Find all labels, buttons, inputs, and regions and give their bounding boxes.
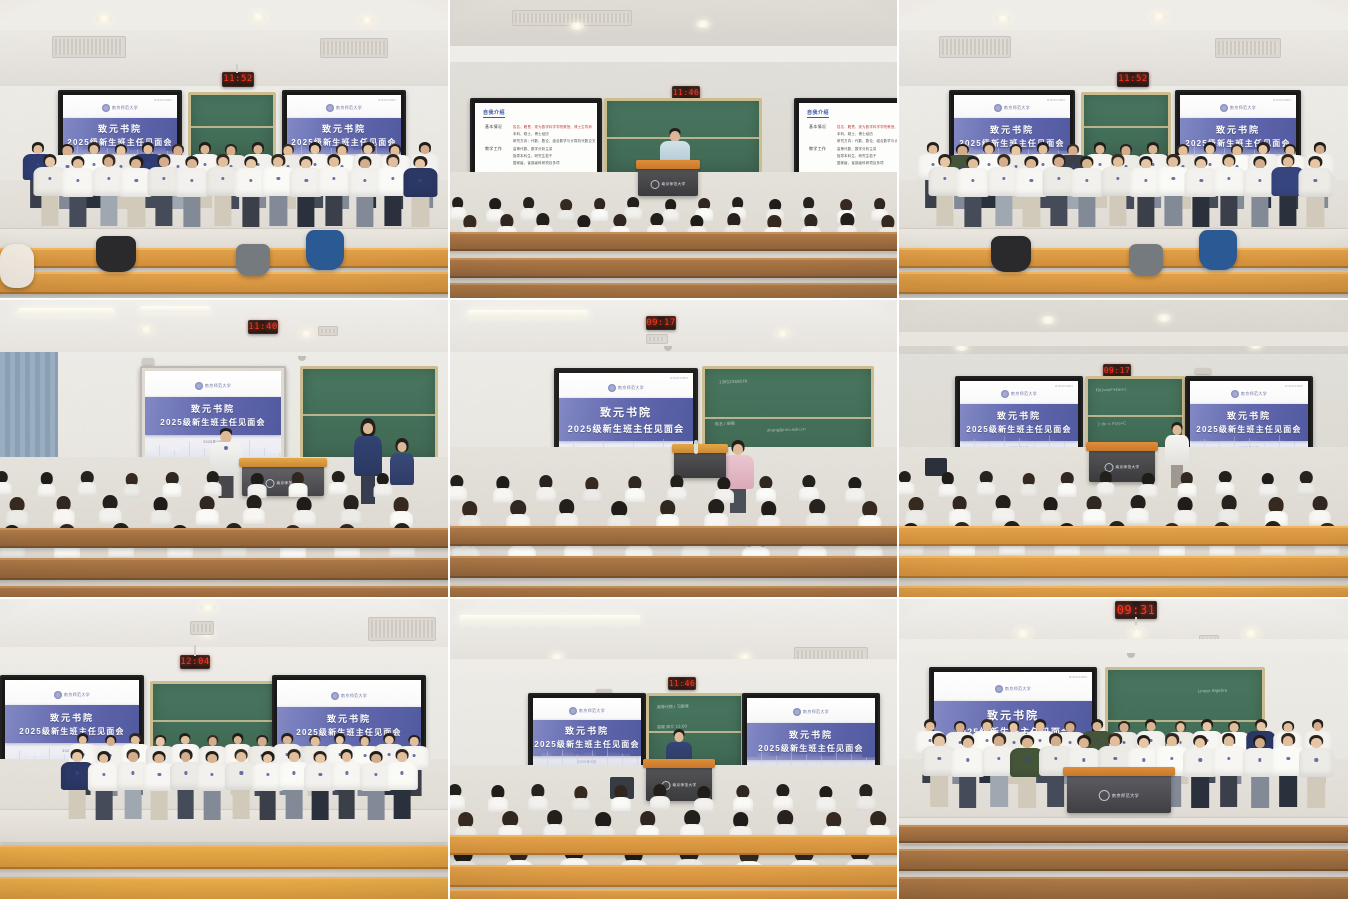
university-name: 南京师范大学 [1005, 686, 1031, 692]
photo-cell-bottom-center[interactable]: 11:46 南京师范大学 致元书院 2025级新生班主任见面会 2025年9月 [450, 599, 899, 899]
head [301, 159, 311, 169]
ac-vent-icon [1215, 38, 1281, 58]
textslide-value: 姓名、籍贯、现为数学科学学院教授、博士生导师 [513, 124, 596, 129]
podium-top [239, 458, 328, 467]
ceiling-light [1041, 316, 1055, 324]
textslide-title: 自我介绍 [807, 109, 829, 118]
legs [1023, 197, 1040, 227]
audience-member [706, 499, 726, 529]
torso [528, 796, 548, 810]
blackboard-divider [153, 720, 273, 722]
head [78, 736, 87, 745]
legs [125, 790, 142, 819]
head [143, 145, 152, 154]
head [926, 722, 935, 731]
audience-member [249, 473, 265, 497]
university-name: 南京师范大学 [341, 693, 367, 699]
podium: 南京师范大学 [1067, 775, 1171, 813]
audience-member [626, 476, 643, 502]
university-logo: 南京师范大学 [1231, 390, 1267, 398]
university-logo: 南京师范大学 [54, 691, 90, 699]
textslide-value: 国家级、省部级科研项目多项 [837, 160, 884, 165]
audience-member [669, 475, 686, 501]
torso [203, 482, 222, 496]
legs [177, 790, 194, 819]
university-seal-icon [1231, 390, 1239, 398]
podium: 南京师范大学 [638, 168, 698, 196]
audience-member [151, 497, 170, 526]
classroom-scene: 09:17 HIKVISION 南京师范大学 致元书院 2025级新生班主任见面… [450, 300, 897, 597]
desk-row [450, 586, 897, 597]
university-seal-icon [651, 180, 660, 189]
ceiling-light [460, 615, 640, 622]
backpack [1129, 244, 1163, 276]
torso [650, 796, 670, 810]
blackboard-divider [649, 731, 741, 733]
ceiling-soffit [899, 0, 1348, 30]
head [397, 752, 407, 762]
legs [1307, 197, 1324, 227]
torso [591, 209, 609, 222]
audience-member [1085, 496, 1104, 525]
textslide-key: 教学工作 [809, 146, 831, 152]
attendee-standing [388, 438, 416, 502]
head [90, 145, 99, 154]
desk-row [450, 526, 897, 546]
legs [368, 791, 385, 820]
head [1022, 738, 1032, 748]
slide-content: HIKVISION 南京师范大学 致元书院 2025级新生班主任见面会 2025… [1190, 381, 1308, 455]
textslide-row: 基本情况 姓名、籍贯、现为数学科学学院教授、博士生导师 本科、硕士、博士经历 研… [809, 124, 897, 143]
digital-clock: 11:52 [222, 72, 254, 87]
person [318, 154, 351, 226]
photo-cell-bottom-left[interactable]: 12:04 南京师范大学 致元书院 2025级新生班主任见面会 2025年9月 [0, 599, 450, 899]
head [1283, 157, 1293, 167]
water-bottle [694, 440, 698, 454]
legs [233, 790, 250, 819]
textslide-value: 指导本科生、研究生若干 [513, 153, 560, 158]
chalk-writing: 姓名 / 邮箱 [715, 421, 735, 428]
slide-content: 自我介绍 基本情况 姓名、籍贯、现为数学科学学院教授、博士生导师 本科、硕士、博… [475, 103, 597, 175]
audience-member [1219, 495, 1238, 524]
head [33, 145, 42, 154]
desk-row [450, 889, 897, 899]
legs [41, 196, 58, 226]
university-name: 南京师范大学 [205, 383, 231, 389]
slide-line-2: 2025级新生班主任见面会 [568, 422, 685, 435]
ac-vent-icon [190, 621, 214, 635]
legs [128, 197, 145, 227]
projection-screen-right: 自我介绍 基本情况 姓名、籍贯、现为数学科学学院教授、博士生导师 本科、硕士、博… [794, 98, 897, 180]
audience-member [124, 473, 140, 497]
head [420, 145, 429, 154]
legs [1047, 776, 1065, 807]
slide-title-band: 致元书院 2025级新生班主任见面会 [960, 404, 1078, 441]
head [155, 754, 165, 764]
podium-university-name: 南京师范大学 [1112, 793, 1140, 799]
head [1038, 145, 1047, 154]
desk-row [450, 835, 897, 855]
desk-row [899, 877, 1348, 899]
blackboard-divider [303, 414, 435, 416]
digital-clock: 11:40 [248, 320, 278, 334]
audience-member [807, 499, 827, 529]
head [1051, 736, 1061, 746]
head [940, 157, 950, 167]
head [985, 145, 994, 154]
screen-brand-label: HIKVISION [670, 376, 688, 380]
university-name: 南京师范大学 [112, 105, 138, 111]
slide-title-band: 致元书院 2025级新生班主任见面会 [1190, 404, 1308, 441]
legs [412, 197, 429, 227]
audience-member [695, 786, 712, 812]
desk-row [0, 272, 448, 294]
textslide-value: 指导本科生、研究生若干 [837, 153, 884, 158]
head [360, 737, 369, 746]
university-seal-icon [326, 104, 334, 112]
desk-row [450, 556, 897, 578]
ceiling-light [1243, 629, 1259, 638]
audience-member [735, 785, 752, 811]
photo-cell-middle-center[interactable]: 09:17 HIKVISION 南京师范大学 致元书院 2025级新生班主任见面… [450, 300, 899, 599]
backpack [1199, 230, 1237, 270]
legs [100, 196, 117, 226]
person [331, 749, 363, 819]
head [968, 159, 978, 169]
ac-vent-icon [320, 38, 388, 58]
legs [151, 791, 168, 820]
head [311, 737, 320, 746]
torso [582, 489, 602, 503]
desk-row [899, 526, 1348, 546]
torso [404, 168, 437, 197]
slide-line-2: 2025级新生班主任见面会 [160, 417, 265, 428]
desk-row [899, 272, 1348, 294]
textslide-value: 研究方向：代数、数论、组合数学与计算机代数交叉 [513, 138, 596, 143]
digital-clock: 12:04 [180, 655, 210, 669]
desk-row [0, 558, 448, 580]
audience-member [1310, 496, 1329, 525]
desk-row [0, 248, 448, 268]
head [254, 145, 263, 154]
head [310, 145, 319, 154]
blackboard: 高等代数 I 习题课 答疑 周三 15:00 [646, 693, 744, 769]
university-name: 南京师范大学 [336, 105, 362, 111]
desk-row [899, 849, 1348, 871]
classroom-scene: 09:17 HIKVISION 南京师范大学 致元书院 2025级新生班主任见面… [899, 300, 1348, 597]
classroom-scene: 11:46 南京师范大学 致元书院 2025级新生班主任见面会 2025年9月 [450, 599, 897, 899]
person [1213, 154, 1246, 226]
head [1066, 723, 1075, 732]
slide-line-2: 2025级新生班主任见面会 [1196, 424, 1301, 435]
ceiling-soffit [0, 0, 448, 30]
legs [259, 791, 276, 820]
digital-clock: 11:46 [668, 677, 696, 690]
chalk-writing: 13812345678 [719, 379, 747, 385]
audience-member [1059, 472, 1075, 496]
chalk-writing: zhang@nnu.edu.cn [767, 426, 806, 432]
slide-line-1: 致元书院 [98, 122, 142, 135]
legs [69, 790, 86, 819]
head [1257, 722, 1266, 731]
head [289, 752, 299, 762]
audience-member [8, 497, 27, 526]
textslide-value: 高等代数、数学分析主讲 [837, 146, 884, 151]
person [88, 751, 120, 821]
head [128, 752, 138, 762]
ceiling-light [1157, 314, 1171, 322]
head [1054, 157, 1064, 167]
university-logo: 南京师范大学 [102, 104, 138, 112]
university-logo: 南京师范大学 [195, 382, 231, 390]
head [99, 754, 109, 764]
audience-member [1021, 473, 1037, 497]
blackboard-divider [1088, 415, 1182, 417]
screen-brand-label: HIKVISION [1273, 98, 1291, 102]
classroom-scene: 11:40 南京师范大学 致元书院 2025级新生班主任见面会 2025年9月 [0, 300, 448, 597]
university-seal-icon [54, 691, 62, 699]
ceiling-light [1015, 629, 1031, 638]
ceiling-light [995, 14, 1011, 23]
torso [1070, 168, 1103, 197]
podium-university-name: 南京师范大学 [673, 783, 697, 788]
head [342, 752, 352, 762]
photo-cell-top-right[interactable]: 11:52 HIKVISION 南京师范大学 致元书院 2025级新生班主任见面… [899, 0, 1348, 300]
person [61, 156, 94, 228]
desk-row [899, 248, 1348, 268]
projection-screen-left: 自我介绍 基本情况 姓名、籍贯、现为数学科学学院教授、博士生导师 本科、硕士、博… [470, 98, 602, 180]
torso [450, 486, 467, 500]
ac-vent-icon [368, 617, 436, 641]
torso [1096, 482, 1115, 496]
university-seal-icon [608, 384, 616, 392]
slide-line-1: 致元书院 [1227, 409, 1271, 422]
legs [1191, 777, 1209, 808]
head [1283, 723, 1292, 732]
head [218, 157, 228, 167]
textslide-key: 基本情况 [485, 124, 507, 130]
clock-bracket [194, 645, 196, 656]
torso [78, 482, 97, 496]
podium-nameplate: 南京师范大学 [651, 180, 686, 189]
head [181, 752, 191, 762]
podium-top [672, 444, 728, 453]
legs [1308, 777, 1326, 808]
screen-brand-label: HIKVISION [1055, 384, 1073, 388]
legs [312, 791, 329, 820]
projection-screen-left: 南京师范大学 致元书院 2025级新生班主任见面会 2025年9月 [528, 693, 646, 771]
head [410, 737, 419, 746]
audience-member [495, 476, 512, 502]
head [733, 444, 743, 455]
ceiling-light [1151, 12, 1167, 21]
slide-content: HIKVISION 南京师范大学 致元书院 2025级新生班主任见面会 2025… [960, 381, 1078, 455]
legs [1051, 196, 1068, 226]
desk-row [0, 845, 448, 869]
university-seal-icon [1220, 104, 1228, 112]
torso [1126, 508, 1148, 524]
head [237, 752, 247, 762]
ceiling-light [300, 330, 313, 337]
university-name: 南京师范大学 [803, 709, 829, 715]
desk-row [450, 232, 897, 251]
photo-cell-bottom-right[interactable]: 09:31 HIKVISION 南京师范大学 致元书院 2025级新生班主任见面… [899, 599, 1348, 899]
audience-member [940, 472, 956, 496]
textslide-key: 基本情况 [809, 124, 831, 130]
legs [964, 197, 981, 227]
head [1311, 159, 1321, 169]
head [934, 736, 944, 746]
torso [293, 510, 315, 526]
legs [214, 196, 231, 226]
audience-member [1217, 471, 1233, 495]
podium-university-name: 南京师范大学 [1116, 465, 1140, 470]
torso [196, 763, 228, 791]
person [196, 751, 228, 821]
audience-member [450, 475, 465, 501]
textslide-value: 研究方向：代数、数论、组合数学与计算机代数交叉 [837, 138, 897, 143]
desk-row [450, 283, 897, 298]
photo-cell-top-left[interactable]: 11:52 HIKVISION 南京师范大学 致元书院 2025级新生班主任见面… [0, 0, 450, 300]
torso [1212, 167, 1245, 196]
head [1283, 736, 1293, 746]
textslide-values: 高等代数、数学分析主讲 指导本科生、研究生若干 国家级、省部级科研项目多项 [837, 146, 884, 165]
shirt-logo [224, 446, 228, 450]
ac-vent-icon [646, 334, 668, 344]
textslide-value: 本科、硕士、博士经历 [513, 131, 596, 136]
audience-member [392, 497, 411, 526]
torso [373, 484, 392, 498]
head [283, 736, 292, 745]
person [1299, 156, 1332, 228]
head [104, 157, 114, 167]
ac-vent-icon [318, 326, 338, 336]
slide-content: 南京师范大学 致元书院 2025级新生班主任见面会 2025年9月 [533, 698, 641, 766]
audience-member [950, 496, 969, 525]
university-seal-icon [994, 104, 1002, 112]
university-name: 南京师范大学 [1011, 391, 1037, 397]
head [398, 442, 407, 452]
torso [329, 482, 348, 496]
podium-top [643, 759, 714, 768]
torso [773, 796, 793, 810]
legs [990, 776, 1008, 807]
head [1149, 145, 1158, 154]
ceiling-light [18, 308, 114, 315]
legs [356, 197, 373, 227]
audience-member [450, 784, 463, 810]
slide-line-1: 致元书院 [1216, 123, 1260, 136]
classroom-scene: 11:52 HIKVISION 南京师范大学 致元书院 2025级新生班主任见面… [899, 0, 1348, 298]
university-name: 南京师范大学 [64, 692, 90, 698]
head [928, 145, 937, 154]
backpack [236, 244, 270, 276]
head [1205, 145, 1214, 154]
legs [156, 196, 173, 226]
textslide-values: 姓名、籍贯、现为数学科学学院教授、博士生导师 本科、硕士、博士经历 研究方向：代… [837, 124, 897, 143]
torso [163, 483, 182, 497]
torso [1258, 484, 1277, 498]
textslide-row: 教学工作 高等代数、数学分析主讲 指导本科生、研究生若干 国家级、省部级科研项目… [485, 146, 596, 165]
university-seal-icon [1001, 390, 1009, 398]
ceiling-soffit [899, 639, 1348, 653]
person [386, 749, 418, 819]
photo-cell-middle-right[interactable]: 09:17 HIKVISION 南京师范大学 致元书院 2025级新生班主任见面… [899, 300, 1348, 599]
legs [1251, 197, 1268, 227]
head [263, 754, 273, 764]
textslide-values: 姓名、籍贯、现为数学科学学院教授、博士生导师 本科、硕士、博士经历 研究方向：代… [513, 124, 596, 143]
desk-row [0, 586, 448, 597]
head [982, 722, 991, 731]
legs [936, 196, 953, 226]
ceiling-light [1129, 629, 1145, 638]
ceiling-light [140, 306, 210, 312]
textslide-title: 自我介绍 [483, 109, 505, 118]
slide-line-1: 致元书院 [997, 409, 1041, 422]
head [156, 737, 165, 746]
slide-line-2: 2025级新生班主任见面会 [966, 424, 1071, 435]
slide-line-1: 致元书院 [990, 123, 1034, 136]
person [951, 735, 985, 809]
head [273, 157, 283, 167]
university-seal-icon [793, 708, 801, 716]
legs [1165, 196, 1182, 226]
classroom-scene: 11:46 自我介绍 基本情况 姓名、籍贯、现为数学科学学院教授、博士生导师 本… [450, 0, 897, 298]
audience-member [54, 496, 73, 525]
torso [242, 508, 264, 524]
textslide-row: 教学工作 高等代数、数学分析主讲 指导本科生、研究生若干 国家级、省部级科研项目… [809, 146, 897, 165]
university-seal-icon [1099, 790, 1110, 801]
torso [557, 210, 575, 223]
photo-cell-top-center[interactable]: 11:46 自我介绍 基本情况 姓名、籍贯、现为数学科学学院教授、博士生导师 本… [450, 0, 899, 300]
head [131, 159, 141, 169]
torso [733, 797, 753, 811]
digital-clock: 09:17 [646, 316, 676, 330]
audience-member [0, 471, 10, 495]
torso [61, 168, 94, 197]
legs [325, 196, 342, 226]
head [363, 423, 373, 434]
university-seal-icon [331, 692, 339, 700]
legs [931, 776, 949, 807]
legs [1193, 197, 1210, 227]
legs [384, 196, 401, 226]
legs [394, 790, 411, 819]
audience-member [758, 476, 775, 502]
audience-member [1176, 497, 1195, 526]
head [209, 737, 218, 746]
head [1036, 722, 1045, 731]
person [1070, 156, 1103, 228]
torso [1083, 509, 1105, 525]
audience-member [341, 495, 360, 524]
torso [977, 482, 996, 496]
torso [340, 509, 362, 525]
torso [196, 509, 218, 525]
head [1255, 159, 1265, 169]
jacket [0, 244, 34, 288]
audience-member [1179, 472, 1195, 496]
university-seal-icon [102, 104, 110, 112]
audience-member [79, 471, 95, 495]
slide-line-1: 致元书院 [191, 402, 235, 415]
head [315, 754, 325, 764]
person [1299, 735, 1333, 809]
person [956, 156, 989, 228]
desk-row [899, 586, 1348, 597]
audience-member [330, 471, 346, 495]
photo-cell-middle-left[interactable]: 11:40 南京师范大学 致元书院 2025级新生班主任见面会 2025年9月 [0, 300, 450, 599]
